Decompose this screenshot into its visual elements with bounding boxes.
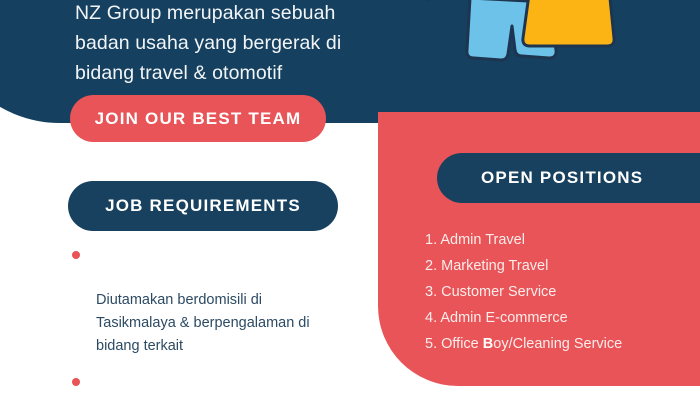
bullet-icon xyxy=(72,378,80,386)
position-label: Customer Service xyxy=(441,284,556,300)
position-label: Admin E-commerce xyxy=(440,310,567,326)
position-label-prefix: Office xyxy=(441,336,483,352)
requirement-text: Diutamakan berdomisili di Tasikmalaya & … xyxy=(96,292,310,354)
position-label: Admin Travel xyxy=(440,232,525,248)
people-illustration xyxy=(390,0,700,65)
position-number: 4. xyxy=(425,310,437,326)
requirements-list: Diutamakan berdomisili di Tasikmalaya & … xyxy=(72,243,362,400)
bullet-icon xyxy=(72,251,80,259)
person-yellow-skirt-icon xyxy=(523,0,614,46)
position-number: 5. xyxy=(425,336,437,352)
positions-list: 1. Admin Travel 2. Marketing Travel 3. C… xyxy=(425,228,700,358)
open-positions-title: OPEN POSITIONS xyxy=(437,153,700,203)
list-item: 5. Office Boy/Cleaning Service xyxy=(425,332,700,357)
job-requirements-title: JOB REQUIREMENTS xyxy=(68,181,338,231)
list-item: Pendidikan minimal D3 (1, 2, 3, 4) xyxy=(72,370,362,400)
list-item: Diutamakan berdomisili di Tasikmalaya & … xyxy=(72,243,362,358)
position-number: 1. xyxy=(425,232,437,248)
list-item: 1. Admin Travel xyxy=(425,228,700,253)
join-our-best-team-button[interactable]: JOIN OUR BEST TEAM xyxy=(70,95,326,142)
intro-text: NZ Group merupakan sebuah badan usaha ya… xyxy=(75,0,405,88)
list-item: 2. Marketing Travel xyxy=(425,254,700,279)
position-label: Marketing Travel xyxy=(441,258,548,274)
list-item: 4. Admin E-commerce xyxy=(425,306,700,331)
position-label-bold: B xyxy=(483,336,493,352)
job-poster: NZ Group merupakan sebuah badan usaha ya… xyxy=(0,0,700,400)
position-number: 3. xyxy=(425,284,437,300)
position-number: 2. xyxy=(425,258,437,274)
list-item: 3. Customer Service xyxy=(425,280,700,305)
position-label-suffix: oy/Cleaning Service xyxy=(493,336,622,352)
